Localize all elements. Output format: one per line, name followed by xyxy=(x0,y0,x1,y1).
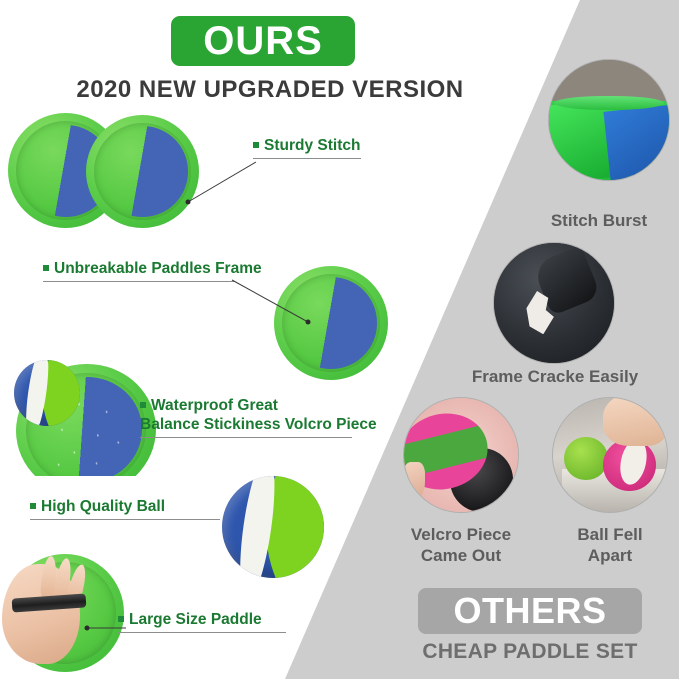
label-stitch-burst: Stitch Burst xyxy=(519,210,679,231)
callout-label-line2: Balance Stickiness Volcro Piece xyxy=(140,415,352,434)
others-subtitle: CHEAP PADDLE SET xyxy=(390,640,670,664)
callout-rule xyxy=(43,281,235,282)
bullet-icon xyxy=(140,402,146,408)
ours-subtitle: 2020 NEW UPGRADED VERSION xyxy=(60,76,480,104)
leader-line-sturdy-stitch xyxy=(180,140,310,205)
others-badge-label: OTHERS xyxy=(453,593,606,629)
photo-frame-cracke xyxy=(494,243,614,363)
bullet-icon xyxy=(43,265,49,271)
callout-unbreakable-frame: Unbreakable Paddles Frame xyxy=(43,259,235,282)
photo-stitch-burst xyxy=(549,60,669,180)
others-badge: OTHERS xyxy=(418,588,642,634)
paddle-velcro-patch xyxy=(97,126,187,216)
leader-line-large-paddle xyxy=(84,620,130,634)
label-frame-cracke: Frame Cracke Easily xyxy=(455,366,655,387)
callout-rule xyxy=(118,632,286,633)
waterproof-paddle-photo xyxy=(8,358,158,476)
callout-rule xyxy=(140,437,352,438)
photo-velcro-came-out xyxy=(404,398,518,512)
callout-high-quality-ball: High Quality Ball xyxy=(30,497,220,520)
callout-waterproof-velcro: Waterproof Great Balance Stickiness Volc… xyxy=(140,396,352,438)
paddle-pair-photo xyxy=(8,113,208,228)
callout-rule xyxy=(30,519,220,520)
callout-label: High Quality Ball xyxy=(30,497,220,516)
label-ball-fell-apart: Ball Fell Apart xyxy=(545,524,675,566)
leader-line-unbreakable-frame xyxy=(228,278,320,328)
ball-on-paddle xyxy=(14,360,80,426)
callout-label-line1: Waterproof Great xyxy=(140,396,352,415)
ours-badge-label: OURS xyxy=(203,21,323,61)
ours-badge: OURS xyxy=(171,16,355,66)
label-velcro-came-out: Velcro Piece Came Out xyxy=(386,524,536,566)
callout-label: Large Size Paddle xyxy=(118,610,286,629)
photo-ball-fell-apart xyxy=(553,398,667,512)
comparison-infographic: OURS 2020 NEW UPGRADED VERSION Sturdy St… xyxy=(0,0,679,679)
callout-label: Unbreakable Paddles Frame xyxy=(43,259,235,278)
bullet-icon xyxy=(30,503,36,509)
callout-large-size-paddle: Large Size Paddle xyxy=(118,610,286,633)
high-quality-ball-photo xyxy=(222,476,324,578)
